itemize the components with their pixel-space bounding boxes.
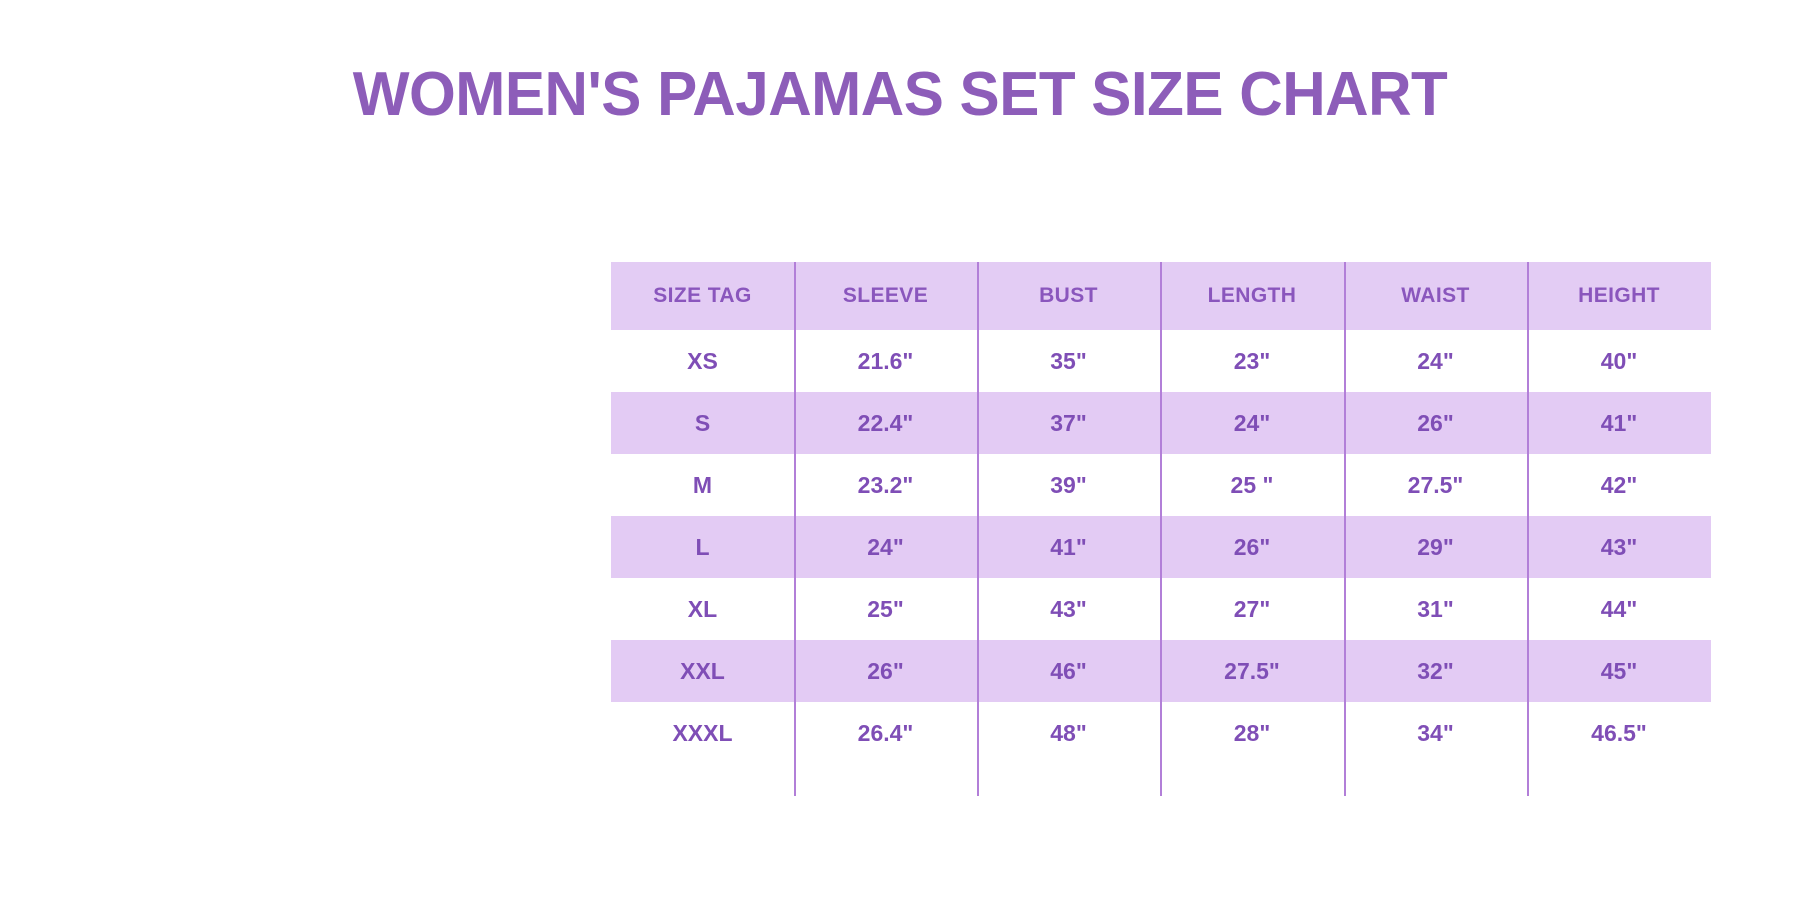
- cell-waist: 34": [1344, 702, 1527, 764]
- cell-waist: 32": [1344, 640, 1527, 702]
- cell-height: 42": [1527, 454, 1711, 516]
- cell-size-tag: XS: [611, 330, 794, 392]
- cell-length: 24": [1160, 392, 1344, 454]
- cell-waist: 29": [1344, 516, 1527, 578]
- cell-size-tag: M: [611, 454, 794, 516]
- cell-bust: 41": [977, 516, 1160, 578]
- cell-bust: 37": [977, 392, 1160, 454]
- cell-bust: 48": [977, 702, 1160, 764]
- cell-length: 25 ": [1160, 454, 1344, 516]
- cell-sleeve: 24": [794, 516, 977, 578]
- cell-length: 23": [1160, 330, 1344, 392]
- cell-length: 27.5": [1160, 640, 1344, 702]
- cell-bust: 46": [977, 640, 1160, 702]
- table-row: XXXL26.4"48"28"34"46.5": [611, 702, 1711, 764]
- column-header-length: LENGTH: [1160, 262, 1344, 330]
- cell-height: 40": [1527, 330, 1711, 392]
- column-header-waist: WAIST: [1344, 262, 1527, 330]
- size-chart-table: SIZE TAGSLEEVEBUSTLENGTHWAISTHEIGHT XS21…: [611, 262, 1711, 764]
- column-header-bust: BUST: [977, 262, 1160, 330]
- cell-height: 45": [1527, 640, 1711, 702]
- cell-size-tag: L: [611, 516, 794, 578]
- cell-height: 43": [1527, 516, 1711, 578]
- cell-waist: 31": [1344, 578, 1527, 640]
- table-row: XL25"43"27"31"44": [611, 578, 1711, 640]
- cell-bust: 35": [977, 330, 1160, 392]
- table-row: S22.4"37"24"26"41": [611, 392, 1711, 454]
- cell-size-tag: XXXL: [611, 702, 794, 764]
- cell-sleeve: 26": [794, 640, 977, 702]
- cell-waist: 26": [1344, 392, 1527, 454]
- table-row: L24"41"26"29"43": [611, 516, 1711, 578]
- cell-sleeve: 26.4": [794, 702, 977, 764]
- column-header-height: HEIGHT: [1527, 262, 1711, 330]
- cell-height: 44": [1527, 578, 1711, 640]
- cell-length: 26": [1160, 516, 1344, 578]
- column-header-sleeve: SLEEVE: [794, 262, 977, 330]
- cell-sleeve: 22.4": [794, 392, 977, 454]
- cell-size-tag: XL: [611, 578, 794, 640]
- column-header-size-tag: SIZE TAG: [611, 262, 794, 330]
- cell-length: 28": [1160, 702, 1344, 764]
- size-chart-page: WOMEN'S PAJAMAS SET SIZE CHART SIZE TAGS…: [0, 0, 1800, 900]
- table-header: SIZE TAGSLEEVEBUSTLENGTHWAISTHEIGHT: [611, 262, 1711, 330]
- cell-sleeve: 25": [794, 578, 977, 640]
- cell-bust: 43": [977, 578, 1160, 640]
- cell-length: 27": [1160, 578, 1344, 640]
- cell-sleeve: 21.6": [794, 330, 977, 392]
- cell-height: 46.5": [1527, 702, 1711, 764]
- cell-waist: 27.5": [1344, 454, 1527, 516]
- cell-waist: 24": [1344, 330, 1527, 392]
- table-row: M23.2"39"25 "27.5"42": [611, 454, 1711, 516]
- page-title: WOMEN'S PAJAMAS SET SIZE CHART: [27, 62, 1773, 127]
- table-body: XS21.6"35"23"24"40"S22.4"37"24"26"41"M23…: [611, 330, 1711, 764]
- table-header-row: SIZE TAGSLEEVEBUSTLENGTHWAISTHEIGHT: [611, 262, 1711, 330]
- cell-size-tag: S: [611, 392, 794, 454]
- table-row: XS21.6"35"23"24"40": [611, 330, 1711, 392]
- cell-bust: 39": [977, 454, 1160, 516]
- table-row: XXL26"46"27.5"32"45": [611, 640, 1711, 702]
- cell-size-tag: XXL: [611, 640, 794, 702]
- cell-sleeve: 23.2": [794, 454, 977, 516]
- cell-height: 41": [1527, 392, 1711, 454]
- size-chart-table-wrapper: SIZE TAGSLEEVEBUSTLENGTHWAISTHEIGHT XS21…: [611, 262, 1711, 764]
